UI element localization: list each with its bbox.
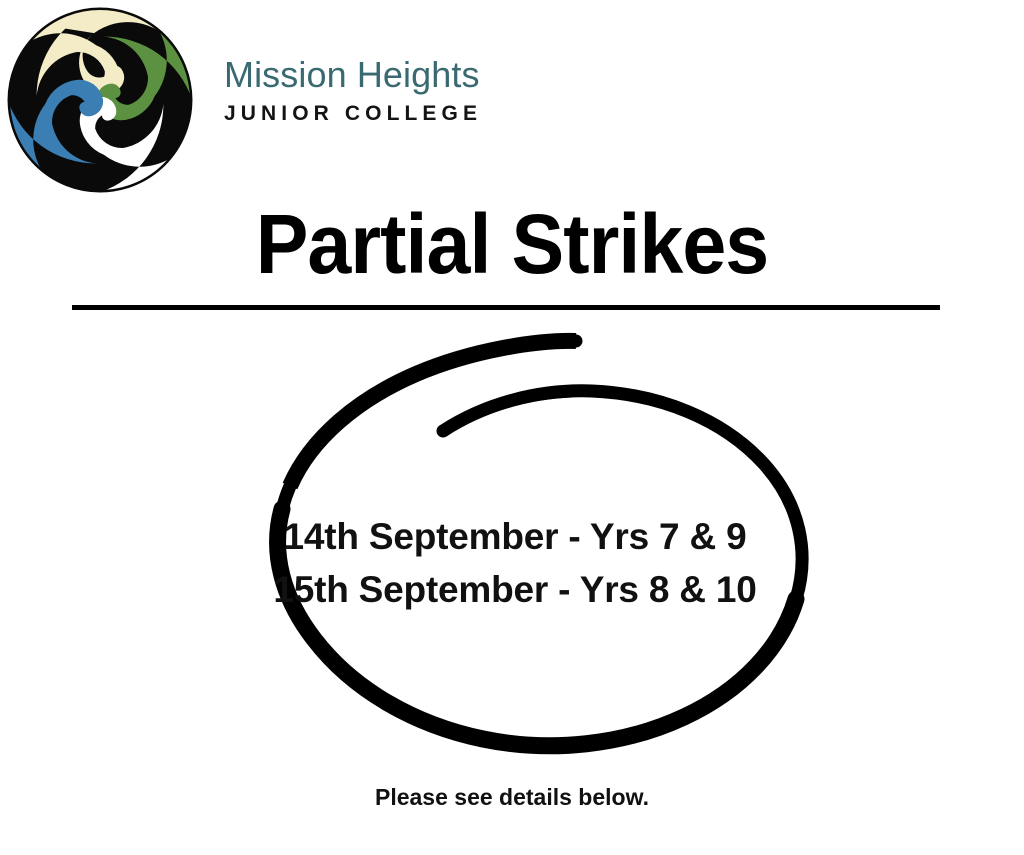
title-underline-rule [72,305,940,310]
callout-line-1: 14th September - Yrs 7 & 9 [210,510,820,563]
brand-subtitle: JUNIOR COLLEGE [224,100,554,128]
brand-wordmark: Mission Heights JUNIOR COLLEGE [224,54,554,128]
page-title: Partial Strikes [31,196,994,292]
mission-heights-koru-logo-icon [4,4,196,196]
callout-text-block: 14th September - Yrs 7 & 9 15th Septembe… [210,510,820,616]
partial-strikes-poster: Mission Heights JUNIOR COLLEGE Partial S… [0,0,1024,855]
footer-note: Please see details below. [0,784,1024,811]
brand-name: Mission Heights [224,54,554,96]
circled-callout: 14th September - Yrs 7 & 9 15th Septembe… [210,325,820,790]
callout-line-2: 15th September - Yrs 8 & 10 [210,563,820,616]
brand-header: Mission Heights JUNIOR COLLEGE [0,0,560,196]
